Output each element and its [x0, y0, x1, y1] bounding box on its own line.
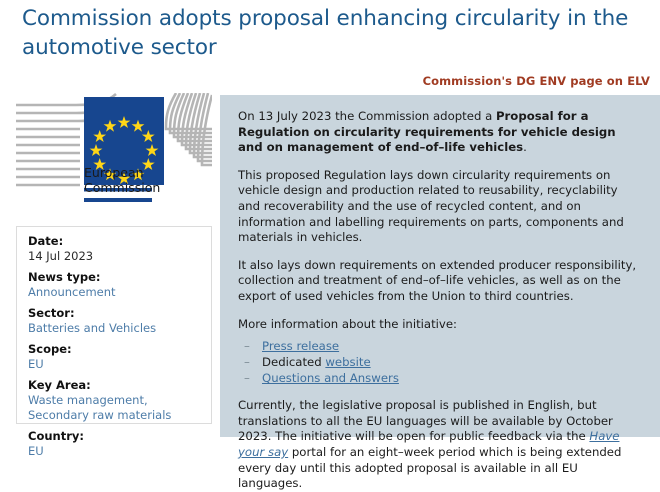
dedicated-website-link[interactable]: website [325, 355, 370, 369]
more-info-link-list: Press release Dedicated website Question… [238, 338, 638, 386]
meta-value-country[interactable]: EU [28, 444, 200, 459]
more-info-heading: More information about the initiative: [238, 317, 638, 333]
meta-row-date: Date: 14 Jul 2023 [28, 234, 200, 264]
meta-value-scope[interactable]: EU [28, 357, 200, 372]
content-panel: On 13 July 2023 the Commission adopted a… [220, 95, 660, 437]
meta-label-date: Date: [28, 234, 200, 249]
meta-row-sector: Sector: Batteries and Vehicles [28, 306, 200, 336]
meta-row-news-type: News type: Announcement [28, 270, 200, 300]
paragraph-languages: Currently, the legislative proposal is p… [238, 398, 638, 492]
intro-pre: On 13 July 2023 the Commission adopted a [238, 109, 496, 123]
press-release-link[interactable]: Press release [262, 339, 339, 353]
meta-row-country: Country: EU [28, 429, 200, 459]
paragraph-producer-responsibility: It also lays down requirements on extend… [238, 258, 638, 305]
list-item: Dedicated website [238, 354, 638, 370]
list-item: Press release [238, 338, 638, 354]
logo-bottom-bar [84, 198, 152, 202]
dg-env-page-note: Commission's DG ENV page on ELV [423, 74, 650, 88]
logo-wordmark: European Commission [84, 165, 204, 202]
logo-wordmark-line1: European [84, 165, 204, 180]
logo-wordmark-line2: Commission [84, 180, 204, 195]
languages-post: portal for an eight–week period which is… [238, 445, 621, 490]
meta-value-news-type[interactable]: Announcement [28, 285, 200, 300]
logo-stripes-right [166, 93, 212, 165]
european-commission-logo: European Commission [16, 93, 212, 208]
metadata-card: Date: 14 Jul 2023 News type: Announcemen… [16, 226, 212, 424]
list-item: Questions and Answers [238, 370, 638, 386]
paragraph-requirements: This proposed Regulation lays down circu… [238, 168, 638, 246]
meta-label-sector: Sector: [28, 306, 200, 321]
page-title: Commission adopts proposal enhancing cir… [22, 4, 642, 62]
meta-label-key-area: Key Area: [28, 378, 200, 393]
meta-value-key-area[interactable]: Waste management, Secondary raw material… [28, 393, 200, 423]
questions-and-answers-link[interactable]: Questions and Answers [262, 371, 399, 385]
paragraph-intro: On 13 July 2023 the Commission adopted a… [238, 109, 638, 156]
meta-value-date: 14 Jul 2023 [28, 249, 200, 264]
link-prefix: Dedicated [262, 355, 325, 369]
meta-value-sector[interactable]: Batteries and Vehicles [28, 321, 200, 336]
meta-label-scope: Scope: [28, 342, 200, 357]
intro-post: . [523, 140, 527, 154]
meta-row-key-area: Key Area: Waste management, Secondary ra… [28, 378, 200, 423]
meta-row-scope: Scope: EU [28, 342, 200, 372]
meta-label-news-type: News type: [28, 270, 200, 285]
